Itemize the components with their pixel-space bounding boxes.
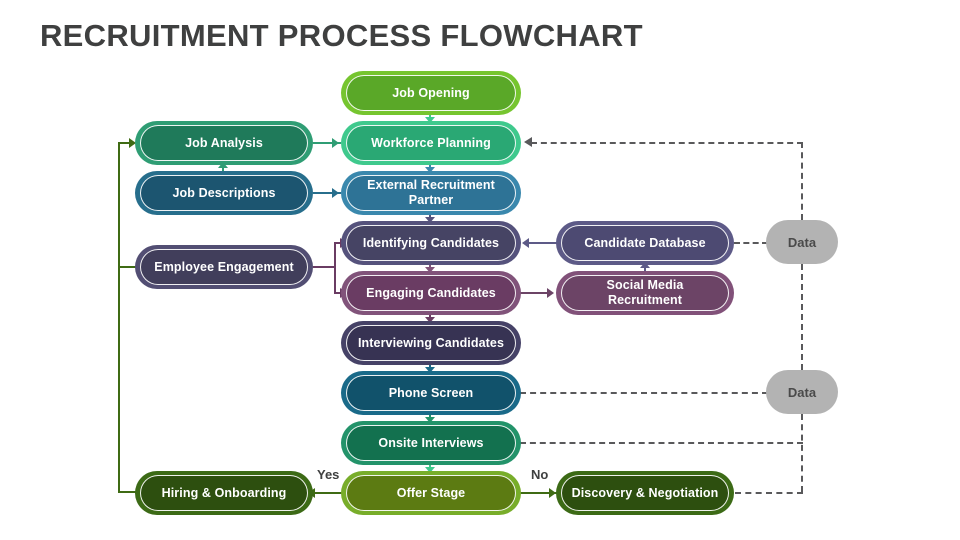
- node-discovery-negotiation-label: Discovery & Negotiation: [560, 486, 731, 501]
- arrow-candidatedb-to-identifying: [522, 238, 529, 248]
- node-job-opening[interactable]: Job Opening: [341, 71, 521, 115]
- connector-discovery-to-spine: [735, 492, 803, 494]
- connector-candidatedb-to-datatop: [734, 242, 768, 244]
- connector-data-spine-middle: [801, 264, 803, 370]
- node-interviewing-candidates-label: Interviewing Candidates: [346, 336, 516, 351]
- node-workforce-planning-label: Workforce Planning: [359, 136, 503, 151]
- node-identifying-candidates-label: Identifying Candidates: [351, 236, 511, 251]
- node-offer-stage-label: Offer Stage: [385, 486, 477, 501]
- arrow-jobdescriptions-to-external: [332, 188, 339, 198]
- node-external-recruitment-partner-label: External Recruitment Partner: [341, 178, 521, 208]
- node-phone-screen[interactable]: Phone Screen: [341, 371, 521, 415]
- flowchart-canvas: RECRUITMENT PROCESS FLOWCHART: [0, 0, 960, 540]
- node-social-media-recruitment[interactable]: Social Media Recruitment: [556, 271, 734, 315]
- node-job-descriptions[interactable]: Job Descriptions: [135, 171, 313, 215]
- node-workforce-planning[interactable]: Workforce Planning: [341, 121, 521, 165]
- node-hiring-onboarding-label: Hiring & Onboarding: [150, 486, 299, 501]
- node-data-top-label: Data: [788, 235, 816, 250]
- node-onsite-interviews[interactable]: Onsite Interviews: [341, 421, 521, 465]
- node-interviewing-candidates[interactable]: Interviewing Candidates: [341, 321, 521, 365]
- node-offer-stage[interactable]: Offer Stage: [341, 471, 521, 515]
- node-identifying-candidates[interactable]: Identifying Candidates: [341, 221, 521, 265]
- node-discovery-negotiation[interactable]: Discovery & Negotiation: [556, 471, 734, 515]
- page-title: RECRUITMENT PROCESS FLOWCHART: [40, 18, 643, 54]
- connector-engagement-stem: [313, 266, 336, 268]
- node-social-media-recruitment-label: Social Media Recruitment: [556, 278, 734, 308]
- branch-label-yes: Yes: [317, 467, 339, 482]
- branch-label-no: No: [531, 467, 548, 482]
- node-candidate-database[interactable]: Candidate Database: [556, 221, 734, 265]
- connector-hiring-feedback-riser: [118, 142, 120, 493]
- node-hiring-onboarding[interactable]: Hiring & Onboarding: [135, 471, 313, 515]
- node-employee-engagement-label: Employee Engagement: [142, 260, 305, 275]
- arrow-engaging-to-socialmedia: [547, 288, 554, 298]
- node-job-analysis-label: Job Analysis: [173, 136, 275, 151]
- node-data-top[interactable]: Data: [766, 220, 838, 264]
- connector-phonescreen-to-databottom: [520, 392, 768, 394]
- node-onsite-interviews-label: Onsite Interviews: [366, 436, 495, 451]
- node-engaging-candidates-label: Engaging Candidates: [354, 286, 508, 301]
- node-engaging-candidates[interactable]: Engaging Candidates: [341, 271, 521, 315]
- arrow-offer-to-discovery: [549, 488, 556, 498]
- connector-engagement-bracket: [334, 242, 336, 294]
- connector-data-spine-lower: [801, 414, 803, 492]
- node-data-bottom-label: Data: [788, 385, 816, 400]
- node-employee-engagement[interactable]: Employee Engagement: [135, 245, 313, 289]
- arrow-datatop-to-workforce: [524, 137, 532, 147]
- node-data-bottom[interactable]: Data: [766, 370, 838, 414]
- node-phone-screen-label: Phone Screen: [377, 386, 486, 401]
- connector-onsite-to-spine: [520, 442, 803, 444]
- node-external-recruitment-partner[interactable]: External Recruitment Partner: [341, 171, 521, 215]
- node-job-descriptions-label: Job Descriptions: [160, 186, 287, 201]
- connector-datatop-to-workforce: [531, 142, 803, 144]
- node-job-opening-label: Job Opening: [380, 86, 482, 101]
- connector-data-spine-upper: [801, 142, 803, 220]
- arrow-jobanalysis-to-workforce: [332, 138, 339, 148]
- node-job-analysis[interactable]: Job Analysis: [135, 121, 313, 165]
- node-candidate-database-label: Candidate Database: [572, 236, 717, 251]
